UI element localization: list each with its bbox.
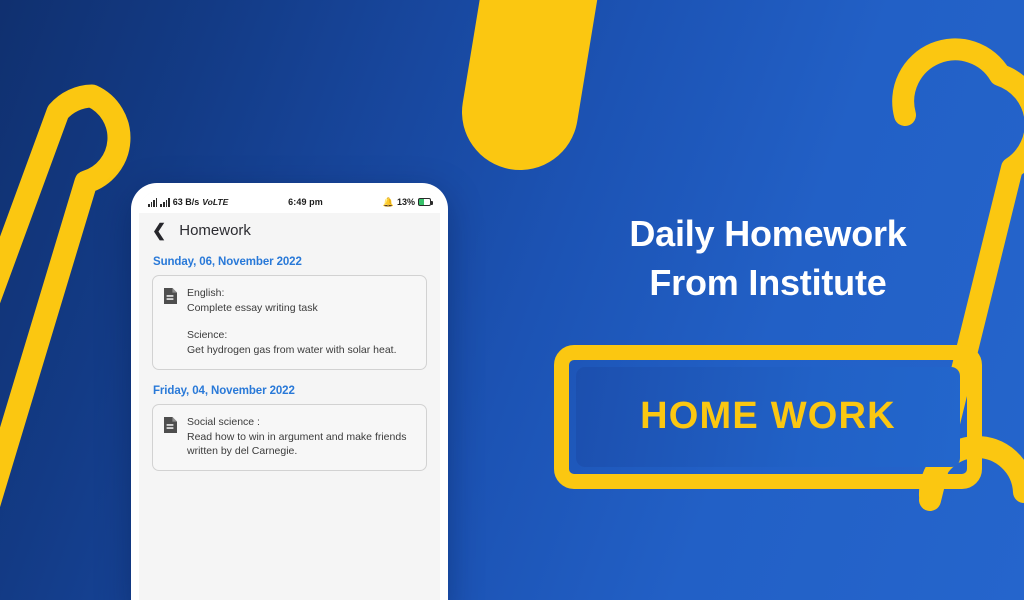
phone-mockup: 63 B/s VoLTE 6:49 pm 🔔 13% ❮ Homework Su… <box>131 183 448 600</box>
homework-subject: Science: <box>187 328 415 343</box>
date-header: Sunday, 06, November 2022 <box>153 256 427 268</box>
battery-percent-label: 13% <box>397 197 415 207</box>
date-header: Friday, 04, November 2022 <box>153 385 427 397</box>
phone-screen: 63 B/s VoLTE 6:49 pm 🔔 13% ❮ Homework Su… <box>139 191 440 600</box>
homework-card-body: Social science : Read how to win in argu… <box>187 415 415 460</box>
homework-list[interactable]: Sunday, 06, November 2022 English: Compl… <box>139 247 440 600</box>
document-icon <box>163 416 178 460</box>
volte-label: VoLTE <box>202 197 228 207</box>
chevron-left-icon[interactable]: ❮ <box>152 222 166 239</box>
status-bar-right: 🔔 13% <box>383 197 431 208</box>
homework-cta-label: HOME WORK <box>640 395 896 438</box>
document-icon <box>163 287 178 358</box>
homework-cta-button[interactable]: HOME WORK <box>554 345 982 489</box>
homework-cta-inner: HOME WORK <box>576 367 960 467</box>
app-bar: ❮ Homework <box>139 213 440 247</box>
homework-item: English: Complete essay writing task <box>187 286 415 316</box>
status-bar: 63 B/s VoLTE 6:49 pm 🔔 13% <box>139 191 440 213</box>
homework-task: Complete essay writing task <box>187 301 415 316</box>
homework-subject: Social science : <box>187 415 415 430</box>
promo-title-line-2: From Institute <box>629 259 906 308</box>
promo-panel: Daily Homework From Institute HOME WORK <box>512 0 1024 600</box>
promo-title-line-1: Daily Homework <box>629 213 906 254</box>
homework-subject: English: <box>187 286 415 301</box>
homework-card[interactable]: Social science : Read how to win in argu… <box>152 404 427 472</box>
signal-bars-icon <box>148 198 157 207</box>
status-bar-clock: 6:49 pm <box>231 197 380 207</box>
status-bar-left: 63 B/s VoLTE <box>148 197 228 207</box>
page-title: Daily Homework From Institute <box>629 210 906 308</box>
homework-item: Science: Get hydrogen gas from water wit… <box>187 328 415 358</box>
homework-task: Read how to win in argument and make fri… <box>187 430 415 460</box>
signal-bars-secondary-icon <box>160 198 169 207</box>
hairpin-loop-left-icon <box>0 96 119 600</box>
homework-task: Get hydrogen gas from water with solar h… <box>187 343 415 358</box>
homework-card[interactable]: English: Complete essay writing task Sci… <box>152 275 427 370</box>
homework-item: Social science : Read how to win in argu… <box>187 415 415 460</box>
homework-card-body: English: Complete essay writing task Sci… <box>187 286 415 358</box>
app-bar-title: Homework <box>179 222 251 239</box>
battery-charging-icon <box>418 198 431 206</box>
network-speed-label: 63 B/s <box>173 197 200 207</box>
bell-mute-icon: 🔔 <box>383 197 394 208</box>
